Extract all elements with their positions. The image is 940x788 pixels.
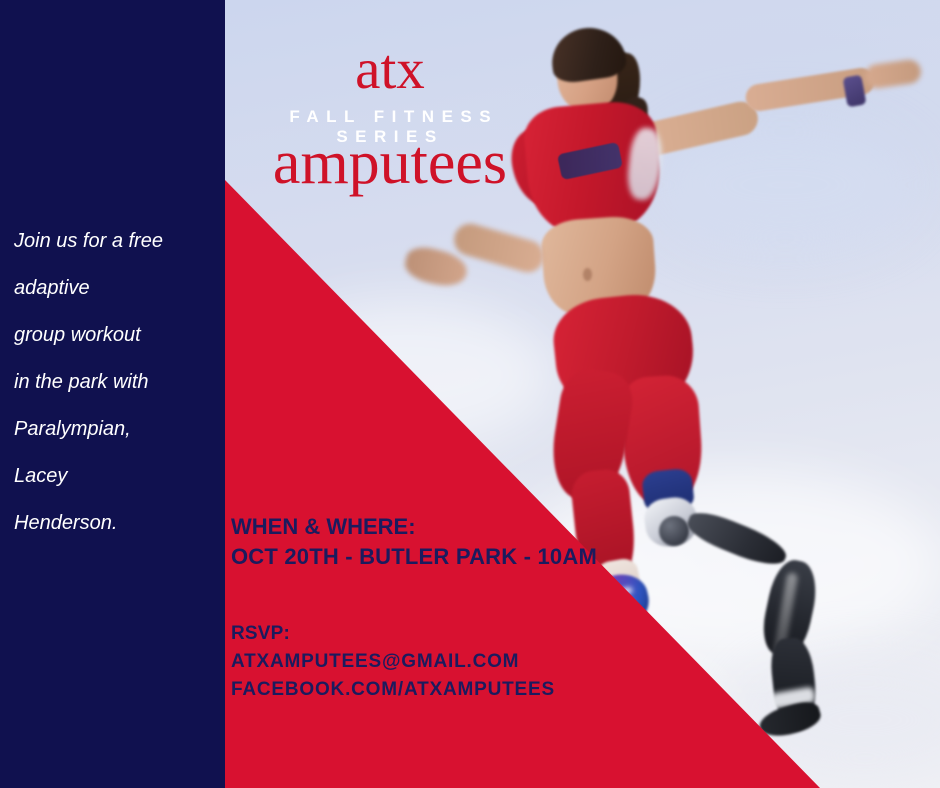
sidebar-line: Join us for a free: [14, 218, 214, 265]
sidebar-line: Paralympian,: [14, 406, 214, 453]
rsvp-facebook-link[interactable]: FACEBOOK.COM/ATXAMPUTEES: [231, 676, 555, 704]
navel: [583, 268, 592, 281]
brand-title-amputees: amputees: [225, 130, 555, 196]
sidebar-line: group workout: [14, 312, 214, 359]
sidebar-description: Join us for a free adaptive group workou…: [14, 218, 214, 547]
sidebar-line: in the park with: [14, 359, 214, 406]
blade-upper: [683, 506, 791, 573]
when-where-block: WHEN & WHERE: OCT 20TH - BUTLER PARK - 1…: [231, 512, 597, 572]
navy-sidebar: Join us for a free adaptive group workou…: [0, 0, 225, 788]
poster-canvas: Join us for a free adaptive group workou…: [0, 0, 940, 788]
sidebar-line: Henderson.: [14, 500, 214, 547]
rsvp-label: RSVP:: [231, 620, 555, 648]
brand-title-atx: atx: [225, 40, 555, 100]
when-where-value: OCT 20TH - BUTLER PARK - 10AM: [231, 542, 597, 572]
prosthetic-joint: [659, 516, 689, 546]
when-where-label: WHEN & WHERE:: [231, 512, 597, 542]
rsvp-block: RSVP: ATXAMPUTEES@GMAIL.COM FACEBOOK.COM…: [231, 620, 555, 704]
sidebar-line: Lacey: [14, 453, 214, 500]
sidebar-line: adaptive: [14, 265, 214, 312]
right-hand: [864, 58, 923, 90]
rsvp-email[interactable]: ATXAMPUTEES@GMAIL.COM: [231, 648, 555, 676]
